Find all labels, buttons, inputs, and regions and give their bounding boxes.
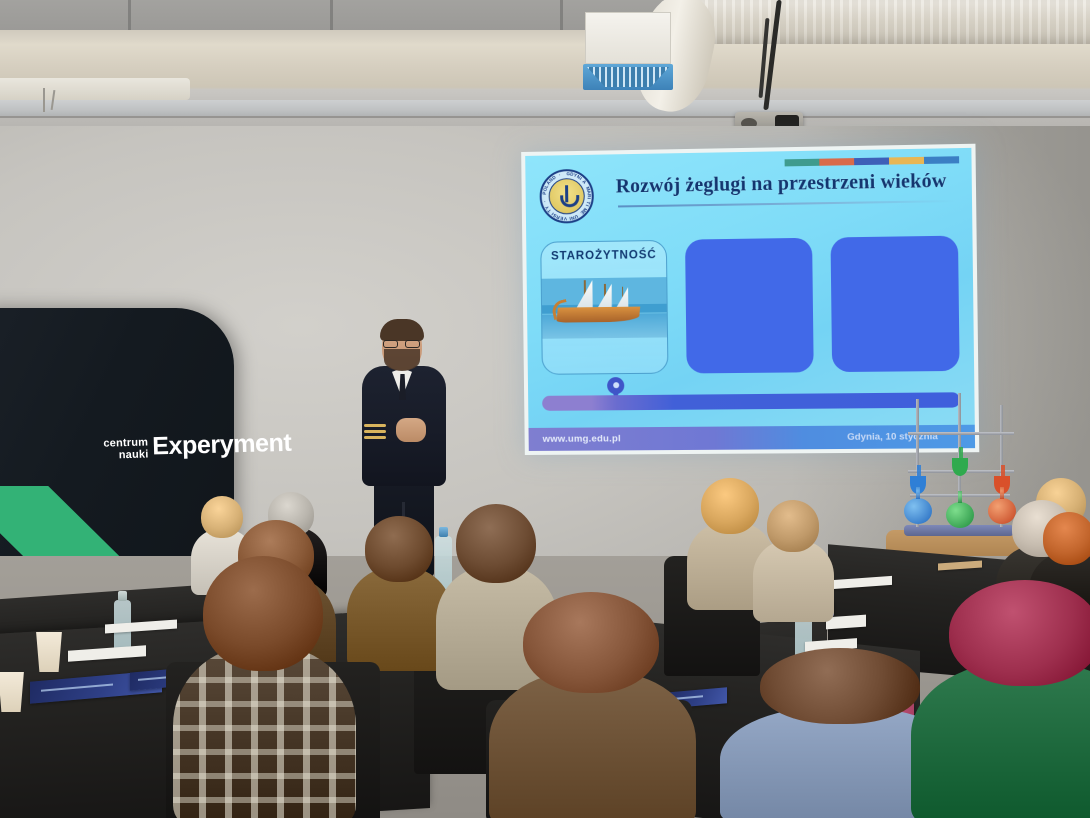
presenter-beard (384, 349, 420, 371)
audience-member-head (767, 500, 820, 552)
slide-cards-row: STAROŻYTNOŚĆ (540, 236, 959, 375)
slide-card-antiquity: STAROŻYTNOŚĆ (540, 240, 669, 375)
ceiling-beam (0, 100, 1090, 116)
audience-member-head (701, 478, 759, 534)
insulated-duct (660, 0, 1090, 44)
maritime-university-logo-icon: GDYNIA MARITIME UNIVERSITY · POLAND · (539, 169, 594, 224)
presenter-hair (380, 319, 424, 341)
audience-member (760, 500, 826, 618)
audience-member-torso (753, 540, 834, 622)
audience-member-head (456, 504, 536, 583)
strip-segment (854, 157, 889, 165)
slide-title: Rozwój żeglugi na przestrzeni wieków (616, 171, 958, 199)
flask-round-blue (904, 498, 932, 524)
hvac-vent (585, 12, 671, 90)
audience-member-head (1043, 512, 1090, 565)
audience-member (506, 592, 676, 818)
timeline-bar (542, 392, 960, 411)
slide-color-strip (785, 156, 960, 166)
audience-member (740, 648, 940, 818)
duct-left-segment (0, 78, 190, 100)
banner-line-2: nauki (90, 449, 148, 462)
anchor-icon (560, 185, 573, 205)
slide-footer-url: www.umg.edu.pl (543, 433, 621, 445)
audience-member-torso (173, 646, 356, 818)
slide-title-rule (618, 200, 955, 207)
audience-member-head (203, 556, 323, 671)
glasses-icon (382, 340, 422, 348)
vent-rod (43, 88, 45, 112)
vent-grille-icon (583, 64, 673, 90)
flask-round-green (946, 502, 974, 528)
audience-member (356, 516, 442, 666)
audience-member-head (949, 580, 1090, 686)
banner-brand: Experyment (152, 429, 292, 462)
audience-member-head (760, 648, 920, 724)
audience-member-head (523, 592, 659, 693)
slide-card-2 (685, 238, 813, 374)
audience-member (930, 580, 1090, 818)
strip-segment (924, 156, 959, 164)
ancient-ship-illustration (542, 277, 668, 339)
presenter-sleeve-stripes (364, 424, 386, 442)
strip-segment (819, 158, 854, 166)
lecture-hall-photo: GDYNIA MARITIME UNIVERSITY · POLAND · Ro… (0, 0, 1090, 818)
ceiling (0, 0, 1090, 132)
strip-segment (889, 157, 924, 165)
audience-member-torso (911, 662, 1090, 818)
presenter-hands (396, 418, 426, 442)
era-label: STAROŻYTNOŚĆ (541, 249, 666, 263)
slide-card-3 (830, 236, 960, 373)
audience-member (188, 556, 338, 818)
audience-member-head (365, 516, 434, 582)
strip-segment (785, 159, 820, 167)
flask-small-green (952, 458, 968, 476)
lab-retort-stand (900, 398, 1018, 536)
